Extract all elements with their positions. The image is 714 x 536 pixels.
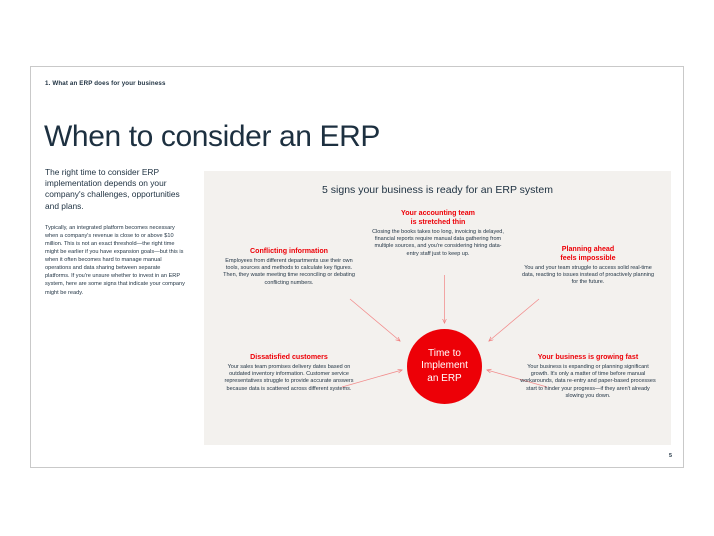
left-text-column: The right time to consider ERP implement… <box>45 167 185 297</box>
arrow-conflicting-to-hub <box>350 299 400 341</box>
page-title: When to consider an ERP <box>44 120 380 154</box>
callout-title: Conflicting information <box>221 247 357 256</box>
callout-accounting-team: Your accounting team is stretched thin C… <box>371 209 505 258</box>
callout-body: Closing the books takes too long, invoic… <box>371 229 505 259</box>
hub-label: Time to Implement an ERP <box>421 348 468 386</box>
slide-frame: 1. What an ERP does for your business Wh… <box>30 66 684 468</box>
callout-body: Employees from different departments use… <box>221 258 357 288</box>
hub-circle: Time to Implement an ERP <box>407 329 482 404</box>
callout-planning-ahead: Planning ahead feels impossible You and … <box>520 245 656 287</box>
diagram-panel: 5 signs your business is ready for an ER… <box>204 171 671 445</box>
callout-title: Dissatisfied customers <box>221 353 357 362</box>
callout-dissatisfied-customers: Dissatisfied customers Your sales team p… <box>221 353 357 393</box>
callout-conflicting-information: Conflicting information Employees from d… <box>221 247 357 287</box>
callout-title: Your accounting team is stretched thin <box>371 209 505 227</box>
arrow-planning-to-hub <box>489 299 539 341</box>
body-paragraph: Typically, an integrated platform become… <box>45 224 185 297</box>
lead-paragraph: The right time to consider ERP implement… <box>45 167 185 212</box>
page-number: 5 <box>669 453 672 459</box>
callout-title: Your business is growing fast <box>520 353 656 362</box>
callout-body: Your business is expanding or planning s… <box>520 364 656 401</box>
callout-growing-fast: Your business is growing fast Your busin… <box>520 353 656 401</box>
callout-title: Planning ahead feels impossible <box>520 245 656 263</box>
callout-body: Your sales team promises delivery dates … <box>221 364 357 394</box>
section-eyebrow: 1. What an ERP does for your business <box>45 80 166 87</box>
callout-body: You and your team struggle to access sol… <box>520 265 656 287</box>
